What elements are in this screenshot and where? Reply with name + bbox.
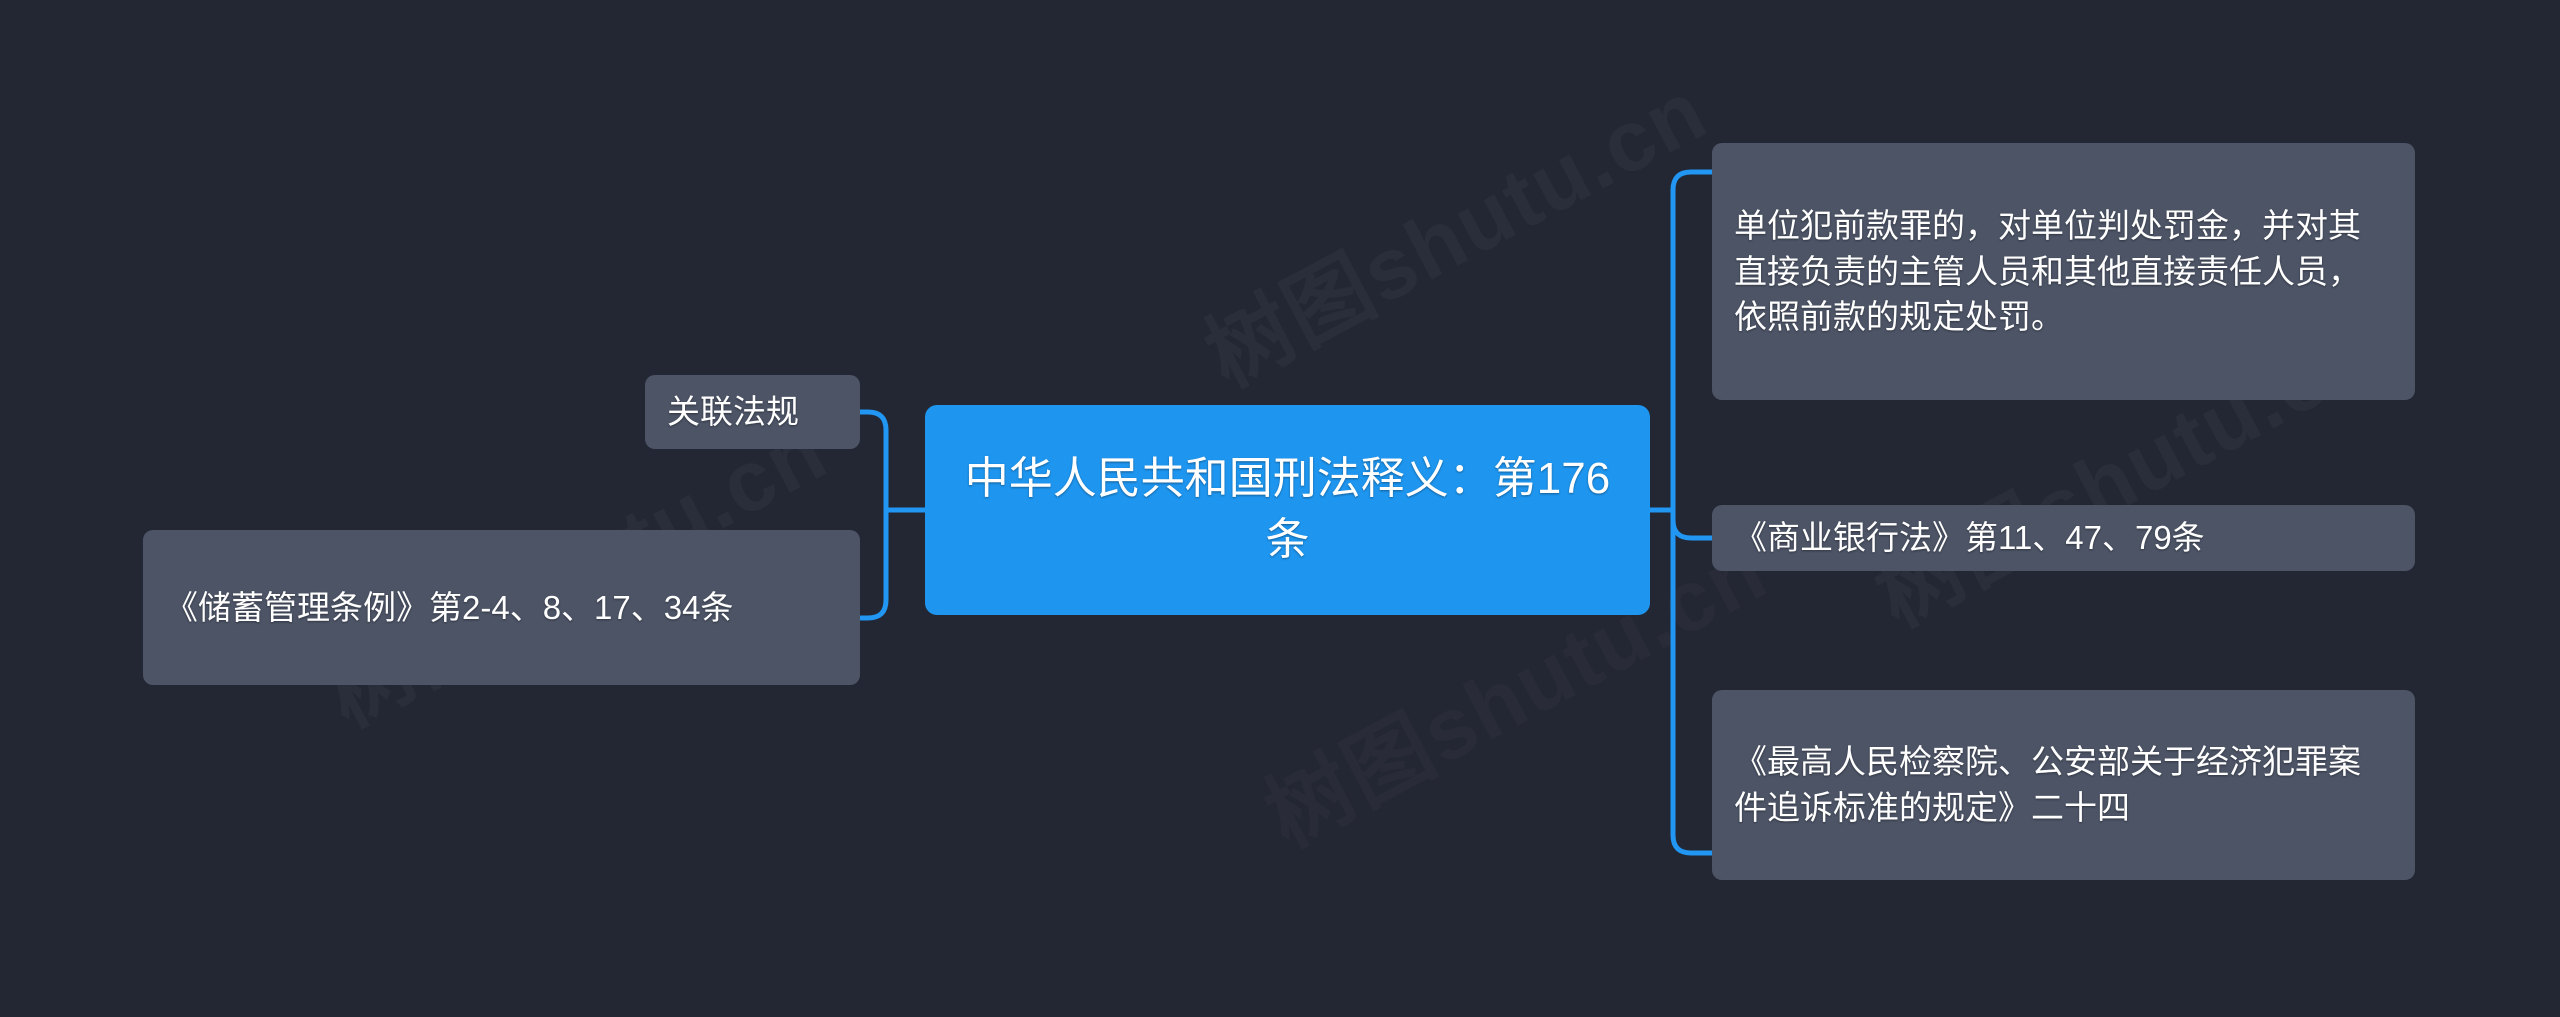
branch-node-commercial-bank-law[interactable]: 《商业银行法》第11、47、79条 <box>1712 505 2415 571</box>
root-node[interactable]: 中华人民共和国刑法释义：第176条 <box>925 405 1650 615</box>
branch-node-label: 关联法规 <box>667 389 799 435</box>
link-right-to-prosecution <box>1673 835 1712 853</box>
branch-node-label: 《商业银行法》第11、47、79条 <box>1734 515 2205 561</box>
watermark-text: 树图shutu.cn <box>1180 42 1725 411</box>
link-left-to-savings <box>860 600 886 618</box>
link-right-to-unit-crime <box>1673 172 1712 190</box>
branch-node-label: 单位犯前款罪的，对单位判处罚金，并对其直接负责的主管人员和其他直接责任人员，依照… <box>1734 203 2393 340</box>
branch-node-label: 《最高人民检察院、公安部关于经济犯罪案件追诉标准的规定》二十四 <box>1734 739 2393 830</box>
branch-node-label: 《储蓄管理条例》第2-4、8、17、34条 <box>165 585 733 631</box>
link-right-to-bank-law <box>1673 520 1712 538</box>
link-left-to-related <box>860 412 886 430</box>
root-node-label: 中华人民共和国刑法释义：第176条 <box>951 449 1624 570</box>
branch-node-prosecution-standards[interactable]: 《最高人民检察院、公安部关于经济犯罪案件追诉标准的规定》二十四 <box>1712 690 2415 880</box>
branch-node-savings-regulation[interactable]: 《储蓄管理条例》第2-4、8、17、34条 <box>143 530 860 685</box>
mindmap-canvas[interactable]: 树图shutu.cn 树图shutu.cn 树图shutu.cn 树图shutu… <box>0 0 2560 1017</box>
branch-node-related-regulations[interactable]: 关联法规 <box>645 375 860 449</box>
branch-node-unit-crime-penalty[interactable]: 单位犯前款罪的，对单位判处罚金，并对其直接负责的主管人员和其他直接责任人员，依照… <box>1712 143 2415 400</box>
